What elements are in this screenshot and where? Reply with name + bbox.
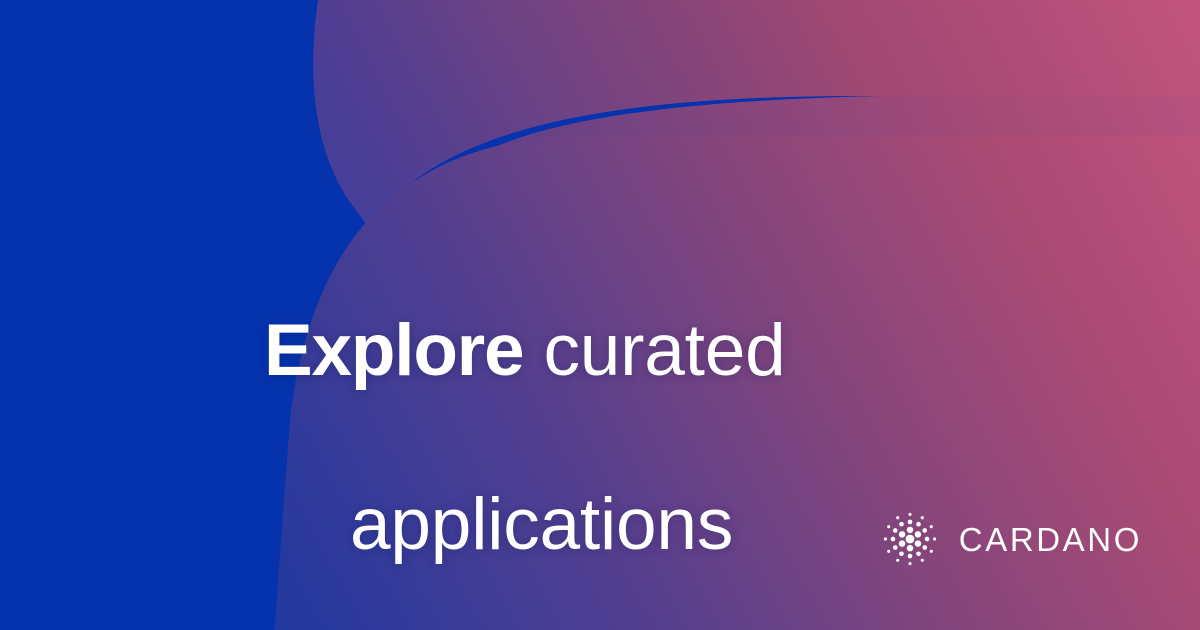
cardano-brand-lockup: CARDANO [881,508,1142,570]
headline-emphasis: Explore [264,310,523,391]
headline-line-2-text: applications [350,484,733,565]
headline-line-1: Explore curated [264,307,1164,394]
share-card: Explore curated applications [0,0,1200,630]
cardano-dot-cluster-icon [881,510,939,568]
cardano-wordmark: CARDANO [959,523,1142,556]
headline-line-1-rest: curated [523,310,785,391]
